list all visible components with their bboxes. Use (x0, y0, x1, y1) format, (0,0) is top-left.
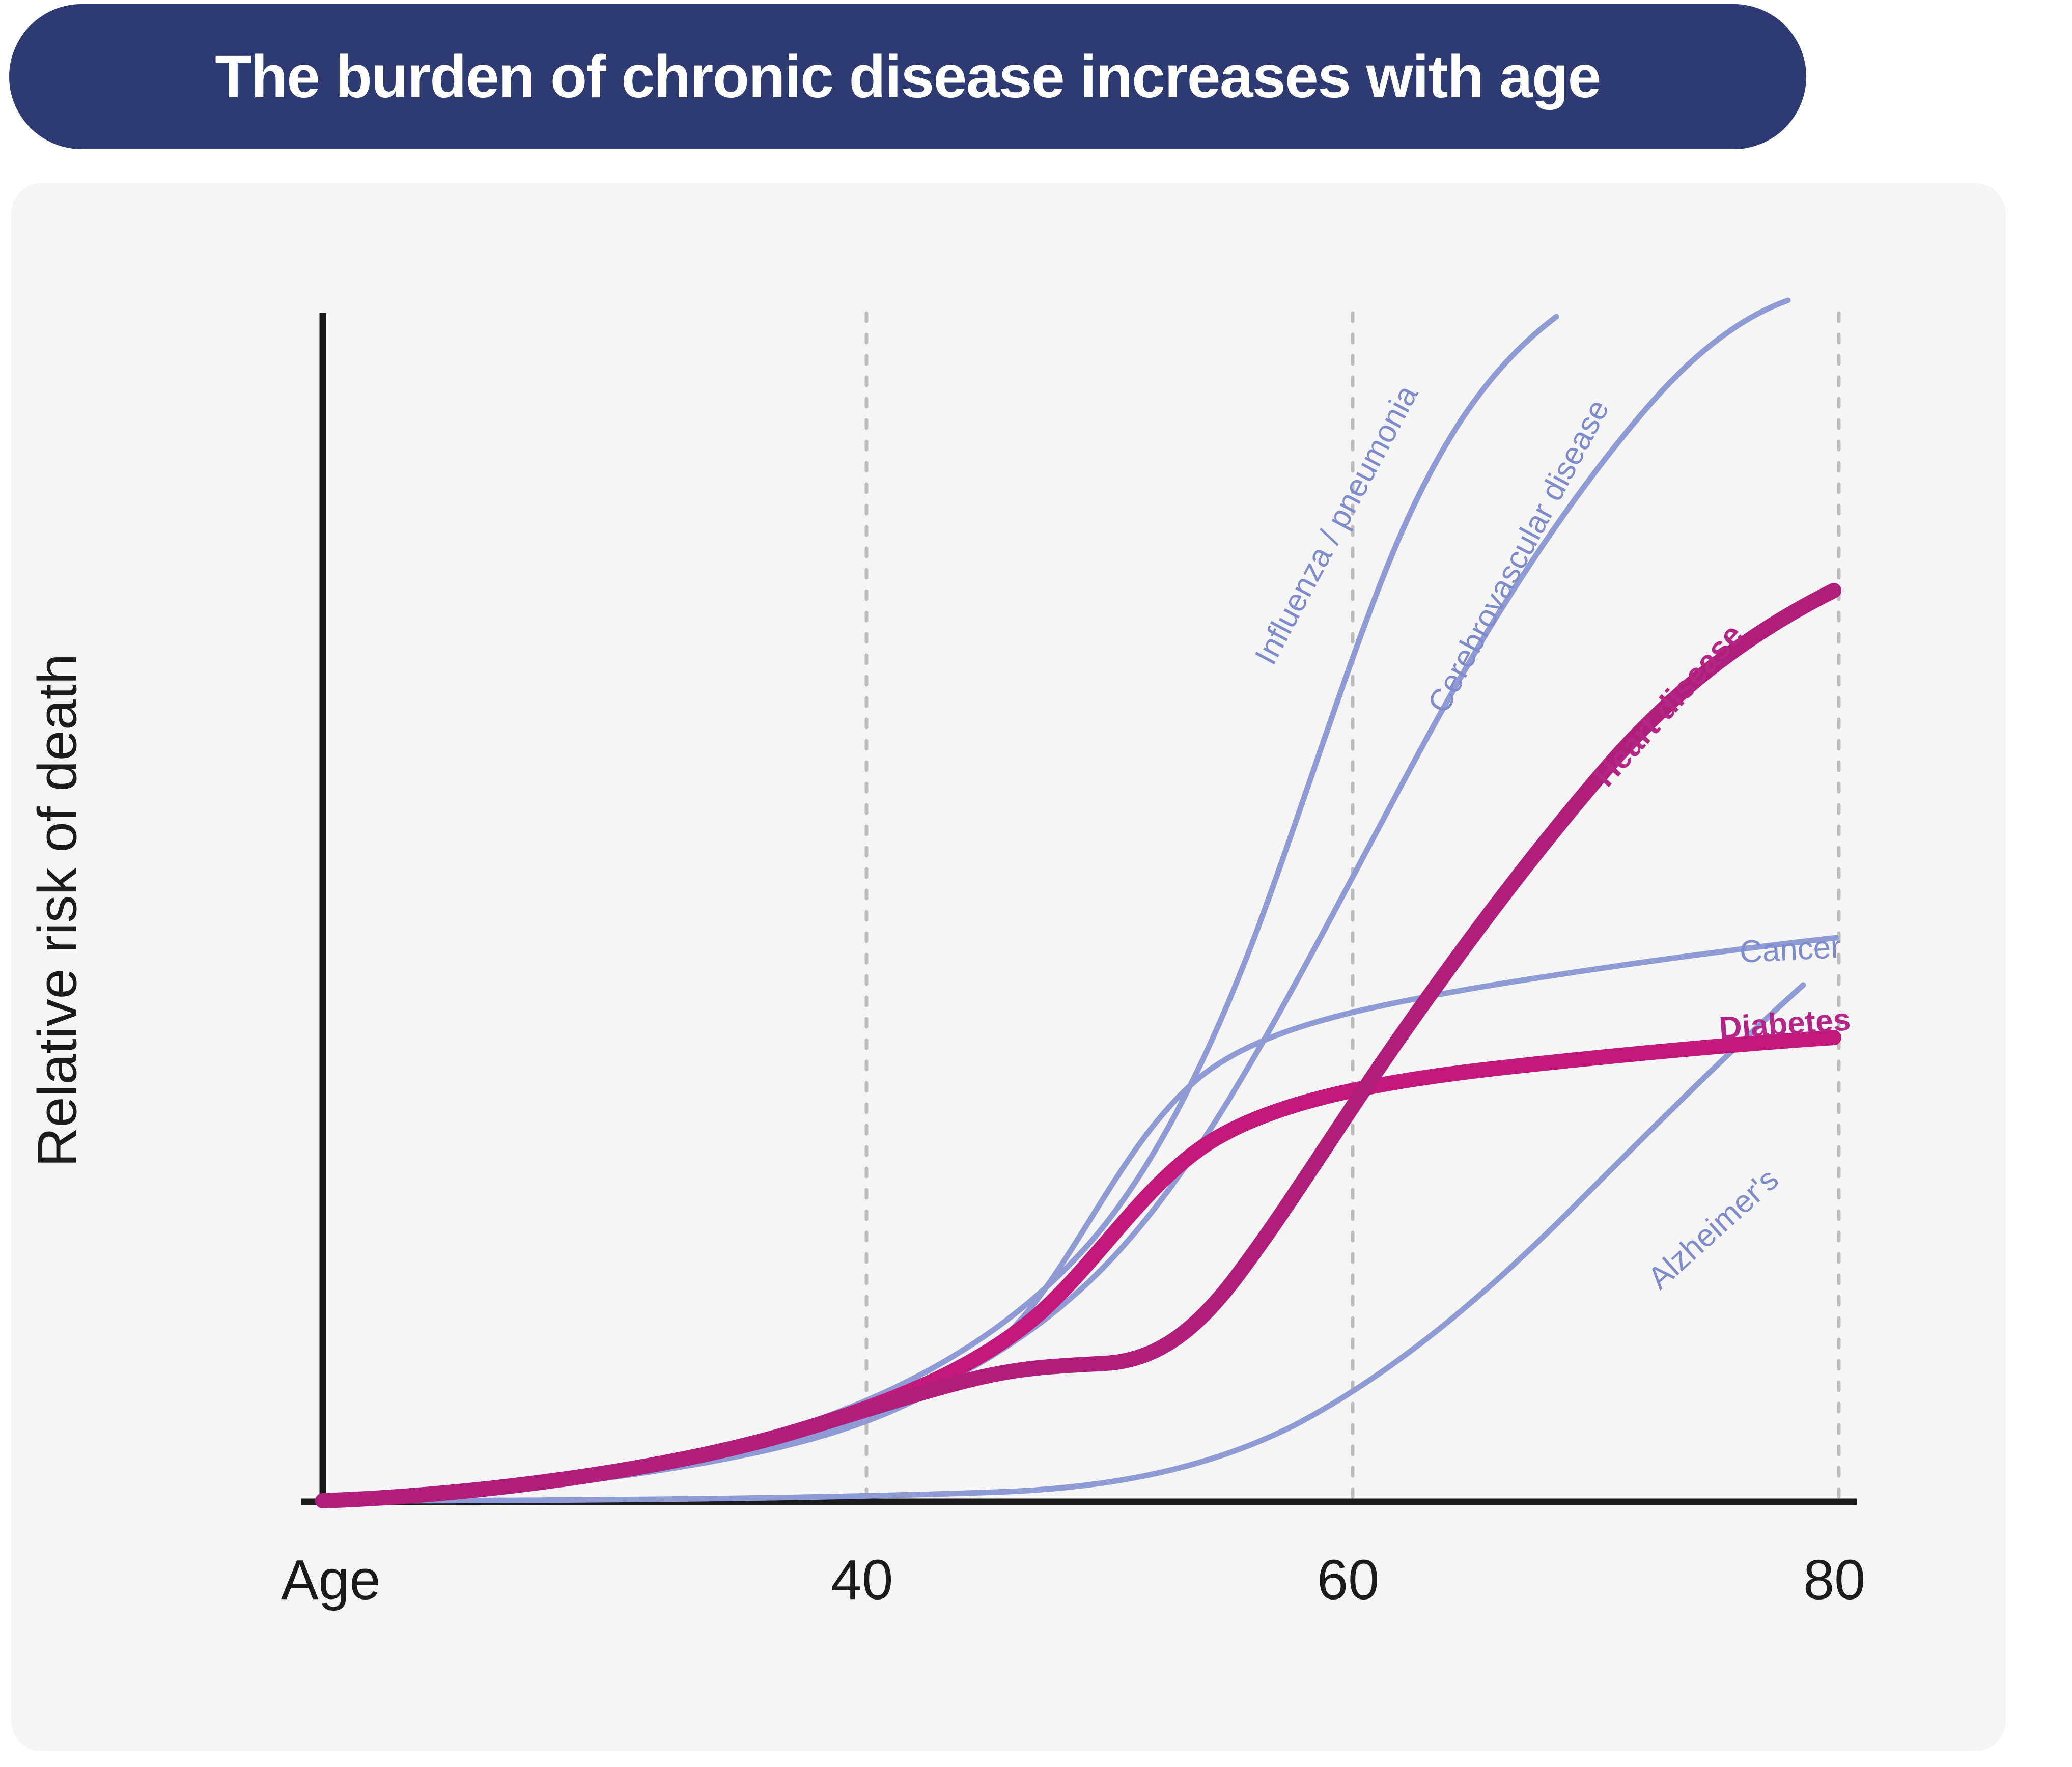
chart-svg (11, 183, 2006, 1751)
page-title: The burden of chronic disease increases … (215, 47, 1601, 107)
chart-plot-area: Relative risk of death Age 40 60 80 Infl… (11, 183, 2006, 1751)
x-tick-80: 80 (1803, 1548, 1865, 1612)
curve-diabetes (323, 1037, 1834, 1501)
x-tick-age: Age (281, 1548, 381, 1612)
page-root: The burden of chronic disease increases … (0, 0, 2072, 1767)
x-tick-60: 60 (1317, 1548, 1379, 1612)
chart-card: Relative risk of death Age 40 60 80 Infl… (11, 183, 2006, 1751)
header-banner: The burden of chronic disease increases … (9, 4, 1806, 149)
x-tick-40: 40 (831, 1548, 893, 1612)
curve-label-cancer[interactable]: Cancer (1739, 929, 1842, 970)
y-axis-title: Relative risk of death (25, 709, 89, 1167)
curve-heart-disease (323, 591, 1834, 1501)
curve-cancer (323, 938, 1836, 1501)
